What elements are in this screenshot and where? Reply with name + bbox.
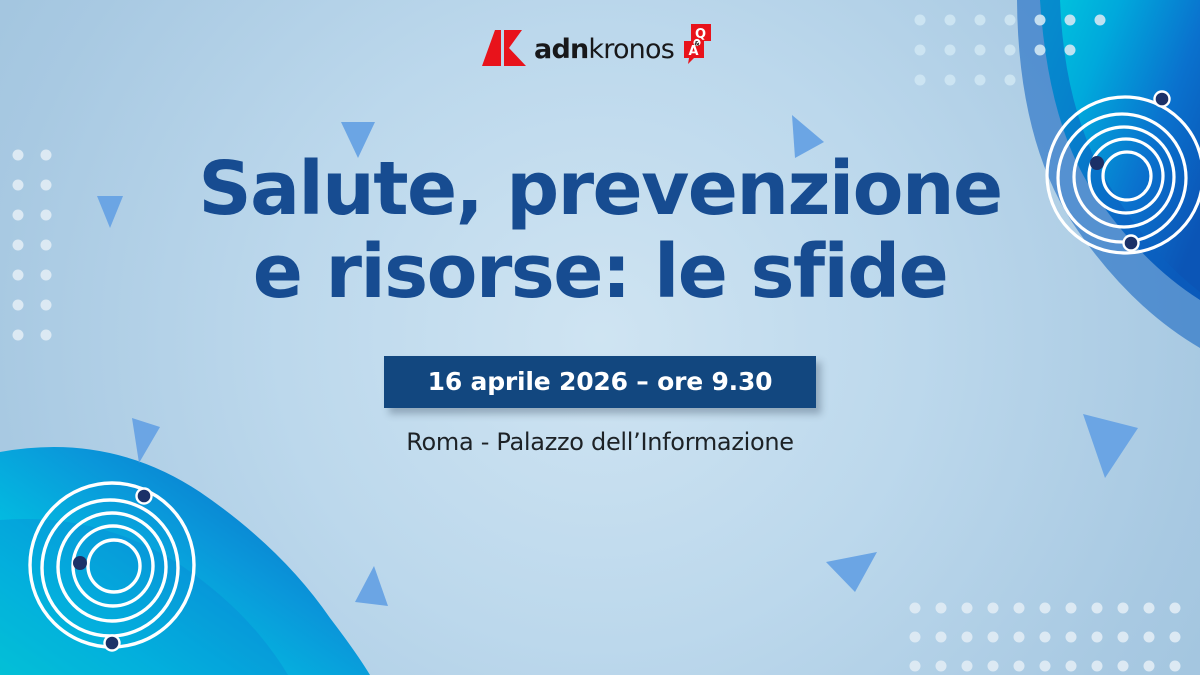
venue-label: Roma - Palazzo dell’Informazione — [406, 428, 794, 456]
adnkronos-wordmark: adnkronos — [534, 36, 674, 63]
wordmark-light: kronos — [588, 34, 674, 65]
date-banner-wrap: 16 aprile 2026 – ore 9.30 — [384, 356, 817, 408]
adnkronos-logo[interactable]: adnkronos Q A & — [482, 26, 718, 70]
date-time-banner: 16 aprile 2026 – ore 9.30 — [384, 356, 817, 408]
qa-badge-icon: Q A & — [678, 24, 718, 64]
event-title: Salute, prevenzione e risorse: le sfide — [0, 148, 1200, 314]
event-banner-canvas: adnkronos Q A & Salute, prevenzione e ri… — [0, 0, 1200, 675]
adnkronos-mark-icon — [482, 30, 526, 66]
svg-text:&: & — [694, 40, 699, 47]
wordmark-bold: adn — [534, 34, 588, 65]
title-line-1: Salute, prevenzione — [0, 148, 1200, 231]
title-line-2: e risorse: le sfide — [0, 231, 1200, 314]
